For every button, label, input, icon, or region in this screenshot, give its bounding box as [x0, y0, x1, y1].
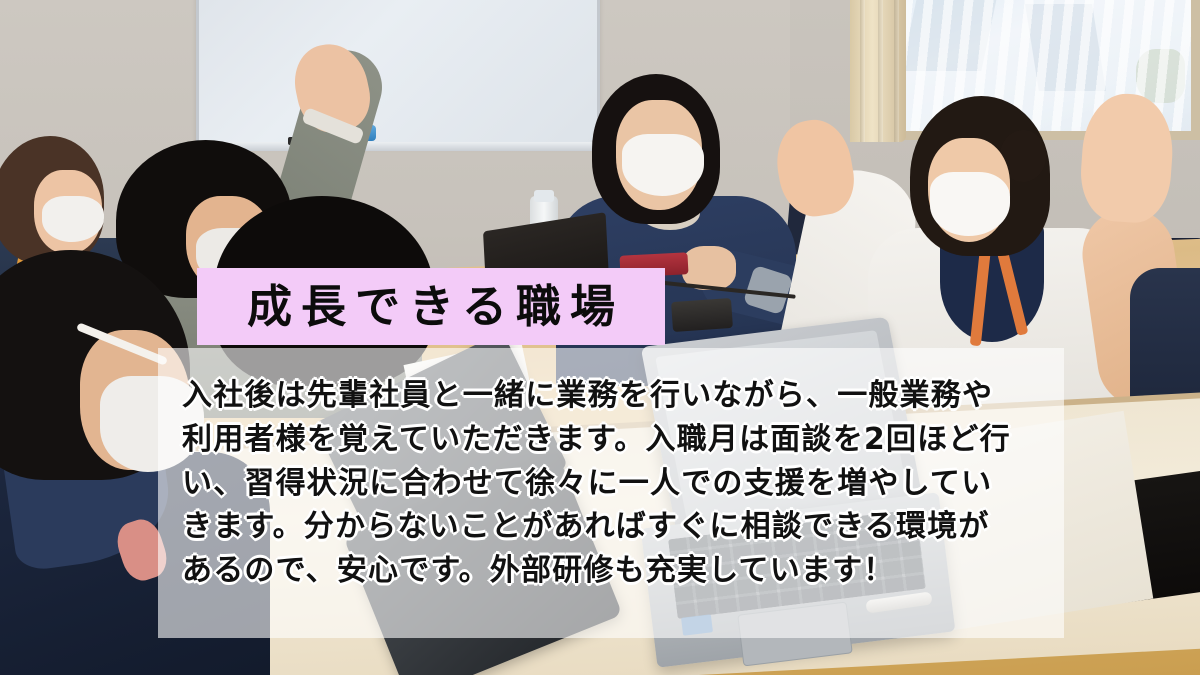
title-text: 成長できる職場	[238, 284, 624, 329]
curtain-fold	[878, 0, 883, 142]
body-line: い、習得状況に合わせて徐々に一人での支援を増やしてい	[182, 462, 1042, 506]
face-mask-icon	[622, 134, 704, 196]
body-line: 利用者様を覚えていただきます。入職月は面談を2回ほど行	[182, 418, 1042, 462]
title-banner: 成長できる職場	[197, 268, 665, 345]
whiteboard-tray	[192, 142, 604, 151]
body-line: きます。分からないことがあればすぐに相談できる環境が	[182, 505, 1042, 549]
body-text: 入社後は先輩社員と一緒に業務を行いながら、一般業務や 利用者様を覚えていただきま…	[182, 374, 1042, 593]
curtain-fold	[860, 0, 865, 142]
body-line: 入社後は先輩社員と一緒に業務を行いながら、一般業務や	[182, 374, 1042, 418]
promo-graphic: 成長できる職場 入社後は先輩社員と一緒に業務を行いながら、一般業務や 利用者様を…	[0, 0, 1200, 675]
curtain-icon	[850, 0, 906, 142]
body-text-panel: 入社後は先輩社員と一緒に業務を行いながら、一般業務や 利用者様を覚えていただきま…	[158, 348, 1064, 638]
bottle-cap	[534, 190, 554, 202]
whiteboard-icon	[196, 0, 600, 146]
body-line: あるので、安心です。外部研修も充実しています！	[182, 549, 1042, 593]
curtain-fold	[894, 0, 899, 142]
power-adapter-icon	[671, 298, 733, 332]
